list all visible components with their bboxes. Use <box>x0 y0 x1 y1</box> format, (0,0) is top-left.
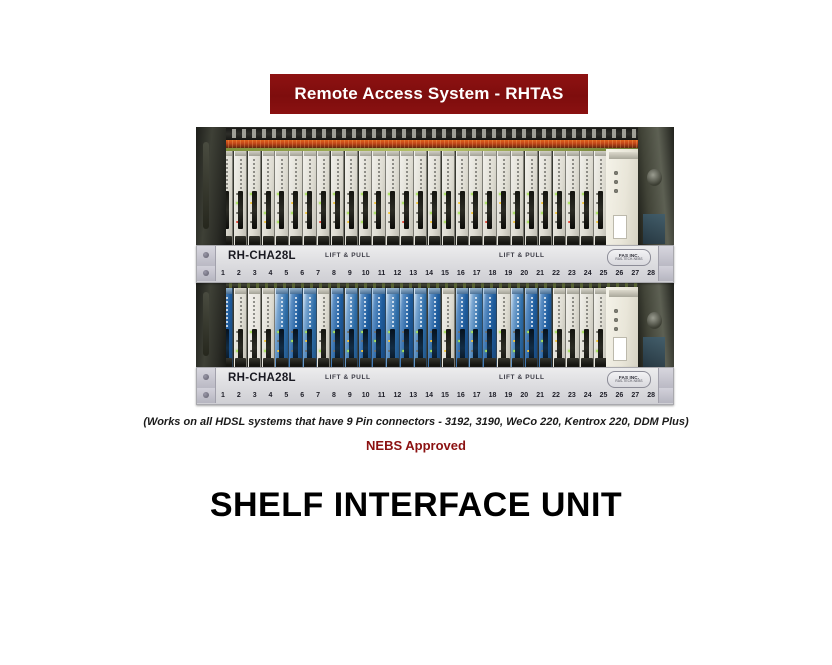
slot-number-19: 19 <box>500 392 516 399</box>
hdsl-card-slot-11[interactable] <box>359 287 372 371</box>
slot-number-6: 6 <box>294 270 310 277</box>
card-top-label <box>595 288 606 294</box>
card-connector-slot <box>321 191 326 229</box>
card-connector-slot <box>252 191 257 229</box>
card-silkscreen-text <box>253 159 255 193</box>
slot-number-4: 4 <box>263 270 279 277</box>
pcb-edge <box>220 148 644 151</box>
slot-number-25: 25 <box>596 270 612 277</box>
line-card-slot-20[interactable] <box>483 149 496 249</box>
slot-number-28: 28 <box>643 270 659 277</box>
upper-numstrip-ear-right <box>658 266 673 281</box>
card-connector-slot <box>307 191 312 229</box>
card-silkscreen-text <box>350 159 352 193</box>
card-top-label <box>263 288 274 294</box>
card-top-label <box>540 288 551 294</box>
slot-number-25: 25 <box>596 392 612 399</box>
card-silkscreen-text <box>240 297 242 331</box>
hdsl-card-slot-9[interactable] <box>331 287 344 371</box>
slot-number-22: 22 <box>548 270 564 277</box>
chassis-left-panel <box>196 127 226 251</box>
card-connector-slot <box>238 191 243 229</box>
card-connector-slot <box>335 191 340 229</box>
slot-number-19: 19 <box>500 270 516 277</box>
slot-number-9: 9 <box>342 392 358 399</box>
slot-number-5: 5 <box>278 270 294 277</box>
slot-number-27: 27 <box>627 392 643 399</box>
card-connector-slot <box>446 191 451 229</box>
card-top-label <box>429 288 440 294</box>
lower-slot-number-strip: 1234567891011121314151617181920212223242… <box>215 388 659 403</box>
slot-number-17: 17 <box>469 270 485 277</box>
hdsl-card-slot-26[interactable] <box>566 287 579 371</box>
hdsl-card-slot-14[interactable] <box>400 287 413 371</box>
page-title: SHELF INTERFACE UNIT <box>0 486 832 525</box>
line-card-slot-11[interactable] <box>359 149 372 249</box>
card-top-label <box>318 288 329 294</box>
hdsl-card-slot-21[interactable] <box>497 287 510 371</box>
upper-slot-number-strip: 1234567891011121314151617181920212223242… <box>215 266 659 281</box>
card-connector-slot <box>404 191 409 229</box>
card-silkscreen-text <box>503 159 505 193</box>
card-silkscreen-text <box>392 159 394 193</box>
card-connector-slot <box>266 191 271 229</box>
rack-mount-ear-right <box>658 246 673 266</box>
chassis-right-bracket <box>638 281 674 373</box>
card-silkscreen-text <box>586 159 588 193</box>
card-silkscreen-text <box>434 297 436 331</box>
slot-number-11: 11 <box>374 392 390 399</box>
line-card-slot-8[interactable] <box>317 149 330 249</box>
line-card-slot-19[interactable] <box>469 149 482 249</box>
card-silkscreen-text <box>434 159 436 193</box>
slot-number-1: 1 <box>215 270 231 277</box>
hdsl-card-slot-16[interactable] <box>428 287 441 371</box>
card-connector-slot <box>293 191 298 229</box>
lower-card-cage <box>220 287 608 371</box>
card-silkscreen-text <box>323 297 325 331</box>
card-top-label <box>512 288 523 294</box>
upper-shelf: RH-CHA28L LIFT & PULL LIFT & PULL FAS IN… <box>196 127 674 282</box>
hdsl-card-slot-24[interactable] <box>539 287 552 371</box>
card-silkscreen-text <box>600 297 602 331</box>
card-top-label <box>457 288 468 294</box>
hdsl-card-slot-18[interactable] <box>456 287 469 371</box>
slot-number-13: 13 <box>405 392 421 399</box>
upper-faceplate: RH-CHA28L LIFT & PULL LIFT & PULL FAS IN… <box>196 245 674 283</box>
card-silkscreen-text <box>461 297 463 331</box>
card-top-label <box>470 288 481 294</box>
card-silkscreen-text <box>406 297 408 331</box>
card-silkscreen-text <box>378 159 380 193</box>
slot-number-14: 14 <box>421 270 437 277</box>
card-connector-slot <box>529 191 534 229</box>
slot-number-23: 23 <box>564 270 580 277</box>
card-silkscreen-text <box>281 159 283 193</box>
card-silkscreen-text <box>253 297 255 331</box>
line-card-slot-26[interactable] <box>566 149 579 249</box>
upper-numstrip-ear-left <box>197 266 216 281</box>
card-silkscreen-text <box>544 159 546 193</box>
card-silkscreen-text <box>309 297 311 331</box>
compatibility-caption: (Works on all HDSL systems that have 9 P… <box>0 416 832 428</box>
line-card-slot-17[interactable] <box>442 149 455 249</box>
hdsl-card-slot-15[interactable] <box>414 287 427 371</box>
card-top-label <box>360 288 371 294</box>
card-connector-slot <box>418 191 423 229</box>
card-top-label <box>484 288 495 294</box>
card-top-label <box>235 288 246 294</box>
line-card-slot-10[interactable] <box>345 149 358 249</box>
lower-chassis-body <box>196 281 674 373</box>
slot-number-22: 22 <box>548 392 564 399</box>
card-silkscreen-text <box>517 297 519 331</box>
hdsl-card-slot-4[interactable] <box>262 287 275 371</box>
slot-number-18: 18 <box>485 270 501 277</box>
slot-number-26: 26 <box>611 270 627 277</box>
slot-number-27: 27 <box>627 270 643 277</box>
psu-label-sticker <box>613 215 627 239</box>
card-top-label <box>373 288 384 294</box>
manufacturer-logo-badge: FAS INC. RAS-TECH-NEBS <box>607 249 651 266</box>
upper-lift-pull-right: LIFT & PULL <box>499 252 545 259</box>
slot-number-24: 24 <box>580 392 596 399</box>
card-top-label <box>498 288 509 294</box>
slot-number-3: 3 <box>247 270 263 277</box>
card-silkscreen-text <box>420 297 422 331</box>
orange-ribbon-cable <box>220 140 644 148</box>
hdsl-card-slot-23[interactable] <box>525 287 538 371</box>
slot-number-15: 15 <box>437 270 453 277</box>
slot-number-11: 11 <box>374 270 390 277</box>
card-silkscreen-text <box>364 159 366 193</box>
card-connector-slot <box>473 191 478 229</box>
slot-number-10: 10 <box>358 270 374 277</box>
card-silkscreen-text <box>337 159 339 193</box>
upper-chassis-body <box>196 127 674 251</box>
line-card-slot-5[interactable] <box>275 149 288 249</box>
manufacturer-logo-badge: FAS INC. RAS-TECH-NEBS <box>607 371 651 388</box>
slot-number-21: 21 <box>532 270 548 277</box>
line-card-slot-2[interactable] <box>234 149 247 249</box>
hdsl-card-slot-17[interactable] <box>442 287 455 371</box>
card-top-label <box>401 288 412 294</box>
lower-model-label: RH-CHA28L <box>228 372 296 384</box>
product-banner: Remote Access System - RHTAS <box>270 74 588 114</box>
slot-number-16: 16 <box>453 270 469 277</box>
slot-number-7: 7 <box>310 270 326 277</box>
slot-number-12: 12 <box>389 392 405 399</box>
card-silkscreen-text <box>475 159 477 193</box>
slot-number-3: 3 <box>247 392 263 399</box>
line-card-slot-13[interactable] <box>386 149 399 249</box>
card-connector-slot <box>543 191 548 229</box>
card-top-label <box>290 288 301 294</box>
card-top-label <box>304 288 315 294</box>
card-connector-slot <box>349 191 354 229</box>
card-silkscreen-text <box>600 159 602 193</box>
card-connector-slot <box>376 191 381 229</box>
slot-number-8: 8 <box>326 270 342 277</box>
card-silkscreen-text <box>378 297 380 331</box>
line-card-slot-18[interactable] <box>456 149 469 249</box>
card-top-label <box>526 288 537 294</box>
slot-number-28: 28 <box>643 392 659 399</box>
slot-number-9: 9 <box>342 270 358 277</box>
line-card-slot-4[interactable] <box>262 149 275 249</box>
card-silkscreen-text <box>240 159 242 193</box>
psu-led-3 <box>614 189 618 193</box>
slot-number-20: 20 <box>516 392 532 399</box>
slot-number-5: 5 <box>278 392 294 399</box>
hdsl-card-slot-2[interactable] <box>234 287 247 371</box>
line-card-slot-23[interactable] <box>525 149 538 249</box>
card-top-label <box>276 288 287 294</box>
card-silkscreen-text <box>517 159 519 193</box>
card-silkscreen-text <box>406 159 408 193</box>
card-connector-slot <box>460 191 465 229</box>
line-card-slot-25[interactable] <box>553 149 566 249</box>
card-silkscreen-text <box>572 159 574 193</box>
card-silkscreen-text <box>544 297 546 331</box>
card-silkscreen-text <box>323 159 325 193</box>
lower-numstrip-ear-left <box>197 388 216 403</box>
hdsl-card-slot-27[interactable] <box>580 287 593 371</box>
hdsl-card-slot-5[interactable] <box>275 287 288 371</box>
card-connector-slot <box>515 191 520 229</box>
rack-mount-ear-right <box>658 368 673 388</box>
slot-number-12: 12 <box>389 270 405 277</box>
card-silkscreen-text <box>572 297 574 331</box>
hdsl-card-slot-12[interactable] <box>372 287 385 371</box>
card-silkscreen-text <box>461 159 463 193</box>
card-top-label <box>443 288 454 294</box>
card-silkscreen-text <box>337 297 339 331</box>
card-connector-slot <box>584 191 589 229</box>
line-card-slot-3[interactable] <box>248 149 261 249</box>
card-connector-slot <box>570 191 575 229</box>
card-connector-slot <box>598 191 603 229</box>
psu-led-2 <box>614 318 618 322</box>
slot-number-23: 23 <box>564 392 580 399</box>
hdsl-card-slot-3[interactable] <box>248 287 261 371</box>
psu-led-1 <box>614 171 618 175</box>
card-connector-slot <box>390 191 395 229</box>
slot-number-20: 20 <box>516 270 532 277</box>
card-connector-slot <box>363 191 368 229</box>
card-top-label <box>332 288 343 294</box>
card-connector-slot <box>487 191 492 229</box>
line-card-slot-24[interactable] <box>539 149 552 249</box>
psu-led-1 <box>614 309 618 313</box>
card-silkscreen-text <box>503 297 505 331</box>
slot-number-21: 21 <box>532 392 548 399</box>
slot-number-26: 26 <box>611 392 627 399</box>
psu-led-2 <box>614 180 618 184</box>
hdsl-card-slot-20[interactable] <box>483 287 496 371</box>
hdsl-card-slot-10[interactable] <box>345 287 358 371</box>
card-top-label <box>567 288 578 294</box>
card-silkscreen-text <box>558 159 560 193</box>
upper-card-cage <box>220 149 608 249</box>
upper-model-label: RH-CHA28L <box>228 250 296 262</box>
card-silkscreen-text <box>350 297 352 331</box>
card-top-label <box>554 288 565 294</box>
slot-number-16: 16 <box>453 392 469 399</box>
card-top-label <box>387 288 398 294</box>
slot-number-10: 10 <box>358 392 374 399</box>
line-card-slot-7[interactable] <box>303 149 316 249</box>
slot-number-15: 15 <box>437 392 453 399</box>
card-silkscreen-text <box>295 297 297 331</box>
card-silkscreen-text <box>420 159 422 193</box>
slot-number-7: 7 <box>310 392 326 399</box>
card-silkscreen-text <box>364 297 366 331</box>
card-top-label <box>346 288 357 294</box>
upper-lift-pull-left: LIFT & PULL <box>325 252 371 259</box>
line-card-slot-15[interactable] <box>414 149 427 249</box>
hdsl-card-slot-19[interactable] <box>469 287 482 371</box>
card-top-label <box>415 288 426 294</box>
card-top-label <box>249 288 260 294</box>
line-card-slot-14[interactable] <box>400 149 413 249</box>
card-silkscreen-text <box>531 297 533 331</box>
card-silkscreen-text <box>475 297 477 331</box>
lower-numstrip-ear-right <box>658 388 673 403</box>
hdsl-card-slot-6[interactable] <box>289 287 302 371</box>
line-card-slot-9[interactable] <box>331 149 344 249</box>
card-silkscreen-text <box>447 159 449 193</box>
card-silkscreen-text <box>392 297 394 331</box>
hdsl-card-slot-13[interactable] <box>386 287 399 371</box>
slot-number-13: 13 <box>405 270 421 277</box>
lower-faceplate: RH-CHA28L LIFT & PULL LIFT & PULL FAS IN… <box>196 367 674 405</box>
line-card-slot-12[interactable] <box>372 149 385 249</box>
card-connector-slot <box>279 191 284 229</box>
line-card-slot-16[interactable] <box>428 149 441 249</box>
slot-number-14: 14 <box>421 392 437 399</box>
line-card-slot-21[interactable] <box>497 149 510 249</box>
card-top-label <box>581 288 592 294</box>
card-silkscreen-text <box>281 297 283 331</box>
card-silkscreen-text <box>531 159 533 193</box>
lower-shelf: RH-CHA28L LIFT & PULL LIFT & PULL FAS IN… <box>196 281 674 399</box>
hdsl-card-slot-25[interactable] <box>553 287 566 371</box>
slot-number-2: 2 <box>231 270 247 277</box>
lower-lift-pull-right: LIFT & PULL <box>499 374 545 381</box>
hdsl-card-slot-8[interactable] <box>317 287 330 371</box>
slot-number-18: 18 <box>485 392 501 399</box>
card-silkscreen-text <box>586 297 588 331</box>
line-card-slot-22[interactable] <box>511 149 524 249</box>
logo-secondary-text: RAS-TECH-NEBS <box>615 380 642 384</box>
slot-number-8: 8 <box>326 392 342 399</box>
slot-number-2: 2 <box>231 392 247 399</box>
slot-number-1: 1 <box>215 392 231 399</box>
slot-number-24: 24 <box>580 270 596 277</box>
card-connector-slot <box>501 191 506 229</box>
hdsl-card-slot-22[interactable] <box>511 287 524 371</box>
logo-secondary-text: RAS-TECH-NEBS <box>615 258 642 262</box>
line-card-slot-6[interactable] <box>289 149 302 249</box>
card-silkscreen-text <box>558 297 560 331</box>
card-silkscreen-text <box>309 159 311 193</box>
card-connector-slot <box>432 191 437 229</box>
card-silkscreen-text <box>267 159 269 193</box>
slot-number-6: 6 <box>294 392 310 399</box>
card-silkscreen-text <box>295 159 297 193</box>
chassis-right-bracket <box>638 127 674 251</box>
card-silkscreen-text <box>447 297 449 331</box>
card-silkscreen-text <box>489 297 491 331</box>
card-silkscreen-text <box>267 297 269 331</box>
nebs-approved-label: NEBS Approved <box>0 438 832 453</box>
lower-lift-pull-left: LIFT & PULL <box>325 374 371 381</box>
card-silkscreen-text <box>489 159 491 193</box>
chassis-left-panel <box>196 281 226 373</box>
psu-label-sticker <box>613 337 627 361</box>
equipment-photo: RH-CHA28L LIFT & PULL LIFT & PULL FAS IN… <box>196 127 674 399</box>
rack-mount-ear-left <box>197 246 216 266</box>
banner-title: Remote Access System - RHTAS <box>294 84 563 104</box>
card-connector-slot <box>557 191 562 229</box>
hdsl-card-slot-7[interactable] <box>303 287 316 371</box>
slot-number-4: 4 <box>263 392 279 399</box>
rack-mount-ear-left <box>197 368 216 388</box>
line-card-slot-27[interactable] <box>580 149 593 249</box>
psu-led-3 <box>614 327 618 331</box>
slot-number-17: 17 <box>469 392 485 399</box>
